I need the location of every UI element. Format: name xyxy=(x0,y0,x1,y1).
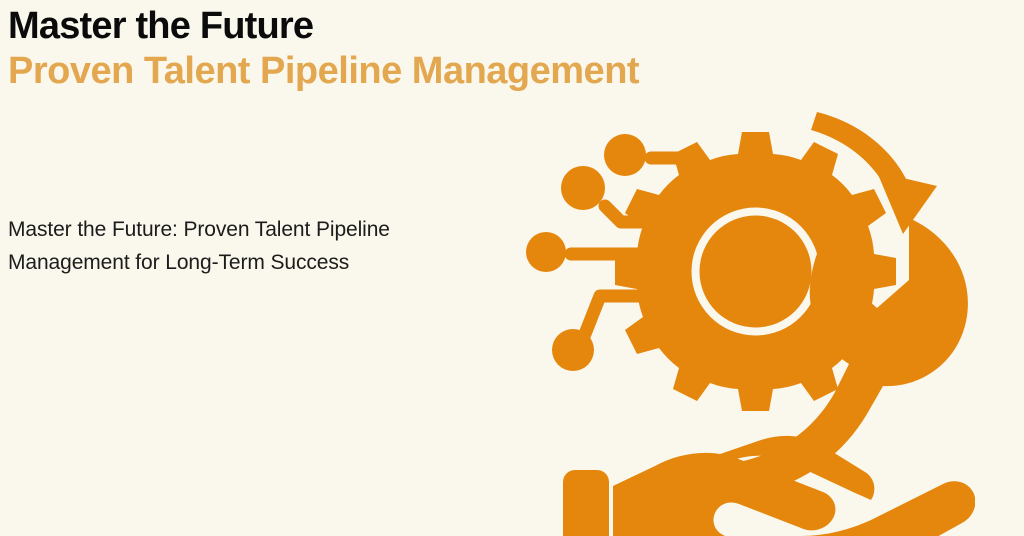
body-copy-line-2: Management for Long-Term Success xyxy=(8,246,508,279)
network-node-circle xyxy=(604,134,646,176)
open-hand-icon xyxy=(563,436,975,536)
body-copy-line-1: Master the Future: Proven Talent Pipelin… xyxy=(8,213,508,246)
body-copy: Master the Future: Proven Talent Pipelin… xyxy=(8,213,508,279)
page-title: Master the Future xyxy=(8,4,838,48)
network-node-circle xyxy=(526,232,566,272)
promo-banner: Master the Future Proven Talent Pipeline… xyxy=(0,0,1024,536)
illustration xyxy=(505,96,975,536)
hand-holding-gear-illustration xyxy=(505,96,975,536)
headline-block: Master the Future Proven Talent Pipeline… xyxy=(8,4,838,94)
page-subtitle: Proven Talent Pipeline Management xyxy=(8,48,838,94)
gear-hub xyxy=(700,216,812,328)
network-node-circle xyxy=(561,166,605,210)
hand-cuff xyxy=(563,470,609,536)
